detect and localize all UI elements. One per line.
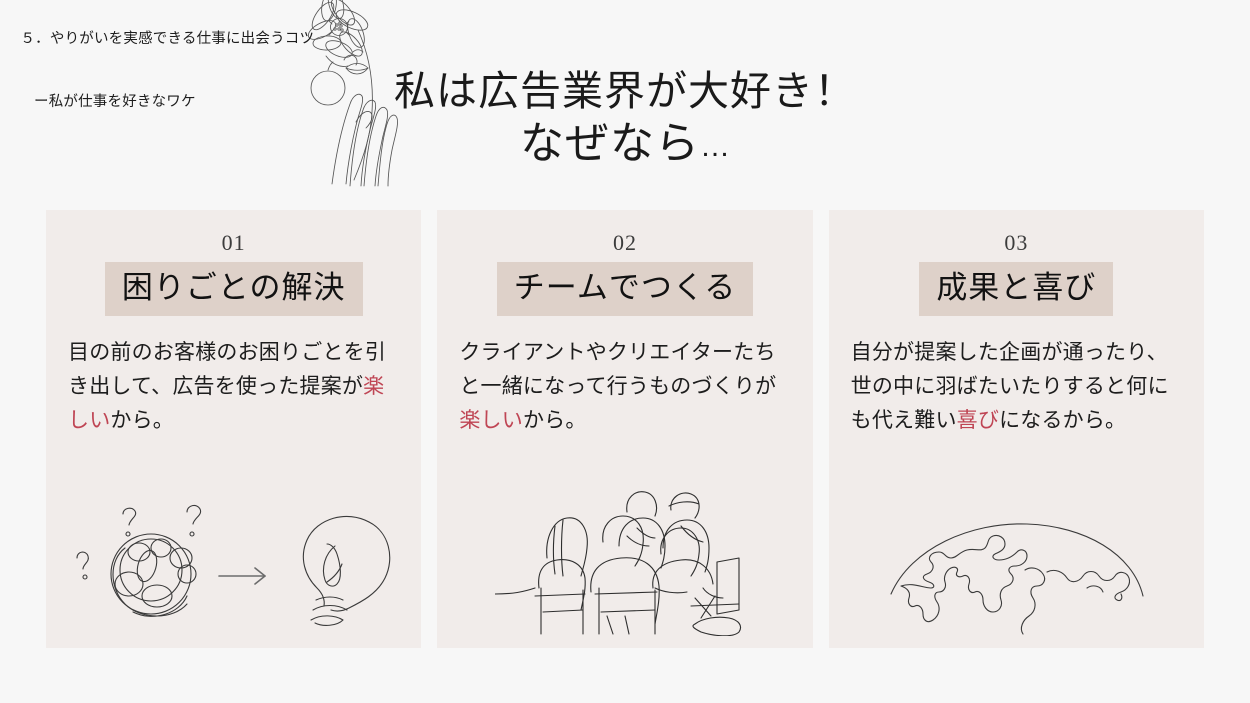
reason-card-02: 02 チームでつくる クライアントやクリエイターたちと一緒になって行うものづくり… [437, 210, 812, 648]
card-number: 03 [829, 232, 1204, 254]
card-heading: 成果と喜び [919, 262, 1113, 316]
card-heading-wrap: チームでつくる [437, 262, 812, 316]
card-body-accent: 喜び [957, 409, 999, 432]
card-heading: チームでつくる [497, 262, 753, 316]
card-heading-wrap: 困りごとの解決 [46, 262, 421, 316]
team-meeting-people-icon [495, 476, 755, 636]
flower-petals [305, 0, 370, 61]
slide-header-line2: ー私が仕事を好きなワケ [12, 92, 314, 113]
card-heading: 困りごとの解決 [105, 262, 363, 316]
lightbulb-icon [303, 516, 389, 625]
slide-header-line1: ５．やりがいを実感できる仕事に出会うコツ [20, 31, 314, 47]
card-body-post: になるから。 [999, 409, 1126, 432]
card-body: 自分が提案した企画が通ったり、世の中に羽ばたいたりすると何にも代え難い喜びになる… [851, 336, 1182, 438]
person-center [591, 516, 659, 634]
card-body-post: から。 [523, 409, 587, 432]
reason-card-list: 01 困りごとの解決 目の前のお客様のお困りごとを引き出して、広告を使った提案が… [46, 210, 1204, 648]
globe-world-map-icon [871, 496, 1161, 636]
card-number: 01 [46, 232, 421, 254]
person-left [535, 518, 587, 634]
card-illustration [829, 496, 1204, 636]
card-illustration [437, 476, 812, 636]
reason-card-01: 01 困りごとの解決 目の前のお客様のお困りごとを引き出して、広告を使った提案が… [46, 210, 421, 648]
title-line-2-text: なぜなら [520, 119, 700, 168]
person-right-seated [653, 528, 713, 593]
card-heading-wrap: 成果と喜び [829, 262, 1204, 316]
card-body-pre: クライアントやクリエイターたちと一緒になって行うものづくりが [459, 341, 776, 398]
card-body: 目の前のお客様のお困りごとを引き出して、広告を使った提案が楽しいから。 [68, 336, 399, 438]
tangled-lines-to-lightbulb-icon [69, 496, 399, 636]
card-illustration [46, 496, 421, 636]
slide-header: ５．やりがいを実感できる仕事に出会うコツ ー私が仕事を好きなワケ [12, 8, 314, 134]
arrow-right-icon [219, 568, 265, 584]
laptop-chair [691, 558, 741, 636]
tangled-scribble [111, 534, 196, 616]
title-ellipsis: … [700, 130, 730, 163]
continents-outline [901, 535, 1130, 634]
card-body-pre: 目の前のお客様のお困りごとを引き出して、広告を使った提案が [68, 341, 386, 398]
ground-line [495, 588, 535, 594]
reason-card-03: 03 成果と喜び 自分が提案した企画が通ったり、世の中に羽ばたいたりすると何にも… [829, 210, 1204, 648]
card-body: クライアントやクリエイターたちと一緒になって行うものづくりが楽しいから。 [459, 336, 790, 438]
card-number: 02 [437, 232, 812, 254]
globe-arc [891, 524, 1143, 596]
card-body-accent: 楽しい [459, 409, 523, 432]
card-body-post: から。 [110, 409, 174, 432]
